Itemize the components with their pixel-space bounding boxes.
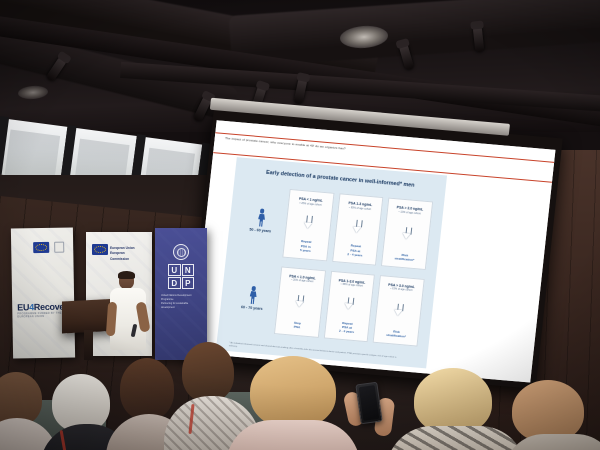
eu-flag-icon: [92, 244, 108, 255]
banner-eu4recovery: EU4Recovery PROGRAMME FUNDED BY THE EURO…: [11, 227, 75, 358]
ceiling-air-vent-icon: [18, 85, 49, 100]
lectern-stem: [84, 330, 93, 360]
banner-tagline: United Nations Development Programme Par…: [161, 294, 202, 310]
down-arrow-icon: [394, 304, 404, 318]
slide-content-panel: Early detection of a prostate cancer in …: [216, 157, 447, 368]
banner-undp: U N D P United Nations Development Progr…: [155, 228, 207, 360]
psa-card: PSA > 3.0 ng/mL ~ 15% of age cohort Risk…: [373, 275, 425, 347]
audience-member: [0, 372, 48, 450]
audience-member: [240, 356, 350, 450]
down-arrow-icon: [303, 216, 313, 230]
matrix-row: 60 - 70 years PSA < 1.0 ng/mL ~ 20% of a…: [228, 262, 424, 346]
un-emblem-icon: [173, 244, 189, 260]
down-arrow-icon: [353, 220, 363, 234]
presenter: [108, 272, 148, 350]
ceiling-duct: [229, 0, 600, 68]
eu-flag-icon: [33, 242, 49, 253]
psa-card: PSA < 1 ng/mL < 25% of age cohort Repeat…: [282, 189, 334, 261]
matrix-row: 50 - 60 years PSA < 1 ng/mL < 25% of age…: [237, 185, 433, 269]
banner-text: European Union European Commission: [110, 246, 135, 262]
psa-decision-matrix: 50 - 60 years PSA < 1 ng/mL < 25% of age…: [227, 185, 433, 356]
slide-title: Early detection of a prostate cancer in …: [248, 168, 433, 190]
audience-member: [512, 380, 600, 450]
psa-card: PSA 1-3 ng/mL ~ 65% of age cohort Repeat…: [332, 193, 384, 265]
down-arrow-icon: [402, 226, 412, 240]
audience-member: [392, 368, 512, 450]
conference-room-photo: The impact of prostate cancer, who every…: [0, 0, 600, 450]
age-group-label: 50 - 60 years: [237, 185, 286, 257]
psa-card: PSA 1-3.0 ng/mL ~ 65% of age cohort Repe…: [323, 271, 375, 343]
psa-card: PSA > 3.0 ng/mL ~ 10% of age cohort Risk…: [381, 198, 433, 270]
male-figure-icon: [249, 286, 258, 305]
male-figure-icon: [257, 209, 266, 228]
undp-lettermark: U N D P: [168, 264, 194, 289]
psa-card: PSA < 1.0 ng/mL ~ 20% of age cohort Stop…: [274, 266, 326, 338]
age-group-label: 60 - 70 years: [228, 262, 277, 334]
partner-logo-icon: [54, 242, 64, 253]
down-arrow-icon: [295, 295, 305, 309]
down-arrow-icon: [344, 297, 354, 311]
